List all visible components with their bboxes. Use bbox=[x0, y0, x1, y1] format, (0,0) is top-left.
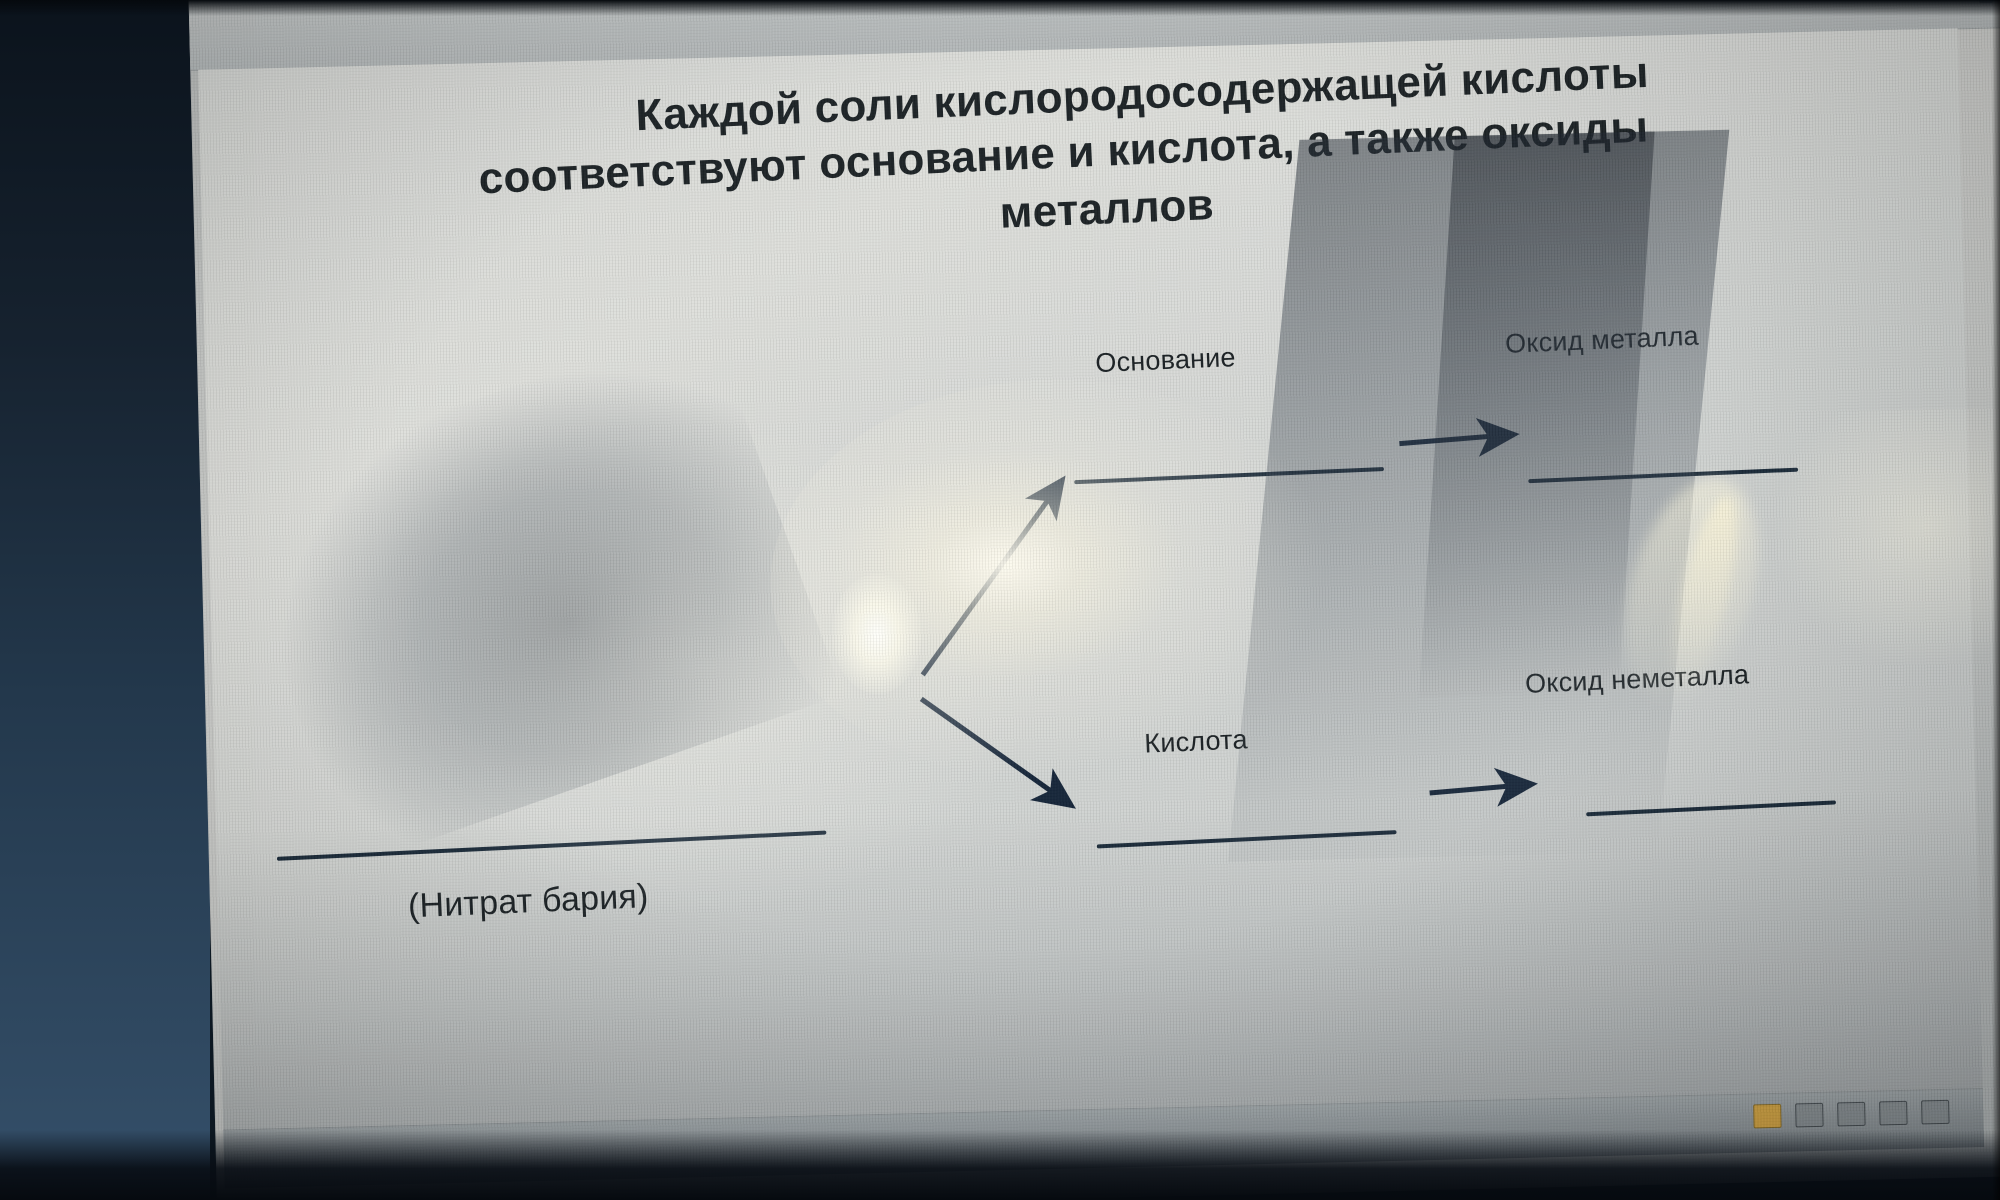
view-mode-buttons[interactable] bbox=[1753, 1100, 1950, 1129]
room-wall-bottom bbox=[0, 1130, 2000, 1200]
slide-sorter-view-icon[interactable] bbox=[1795, 1103, 1824, 1128]
blank-line-salt[interactable] bbox=[277, 830, 827, 860]
label-metal-oxide[interactable]: Оксид металла bbox=[1504, 321, 1699, 360]
label-nonmetal-oxide[interactable]: Оксид неметалла bbox=[1524, 659, 1749, 700]
photo-edge-right bbox=[1992, 0, 2000, 1200]
zoom-control-icon[interactable] bbox=[1921, 1100, 1950, 1125]
screen-reflection-silhouette bbox=[219, 317, 842, 867]
room-shadow-top bbox=[0, 0, 2000, 16]
arrow-split-up[interactable] bbox=[908, 467, 1173, 693]
label-salt[interactable]: (Нитрат бария) bbox=[407, 877, 649, 926]
reading-view-icon[interactable] bbox=[1837, 1102, 1866, 1127]
slide-canvas[interactable]: Каждой соли кислородосодержащей кислоты … bbox=[198, 28, 1982, 1129]
arrow-acid-to-nonmetal-oxide[interactable] bbox=[1425, 761, 1606, 825]
slide-title[interactable]: Каждой соли кислородосодержащей кислоты … bbox=[319, 50, 1813, 257]
projector-hotspot-core bbox=[830, 573, 923, 695]
arrow-split-down[interactable] bbox=[913, 683, 1178, 889]
projector-screen: Упорядочить Экспресс-стили Контур фигуры… bbox=[188, 0, 2000, 1200]
arrow-base-to-metal-oxide[interactable] bbox=[1395, 411, 1576, 475]
blank-line-nonmetal-oxide[interactable] bbox=[1586, 800, 1836, 816]
screen-reflection-right-glow bbox=[1767, 407, 2000, 673]
normal-view-icon[interactable] bbox=[1753, 1104, 1782, 1129]
slideshow-view-icon[interactable] bbox=[1879, 1101, 1908, 1126]
screen-reflection-column bbox=[1228, 130, 1729, 862]
label-base[interactable]: Основание bbox=[1095, 342, 1236, 379]
photo-stage: Упорядочить Экспресс-стили Контур фигуры… bbox=[0, 0, 2000, 1200]
room-wall-left bbox=[0, 0, 210, 1200]
